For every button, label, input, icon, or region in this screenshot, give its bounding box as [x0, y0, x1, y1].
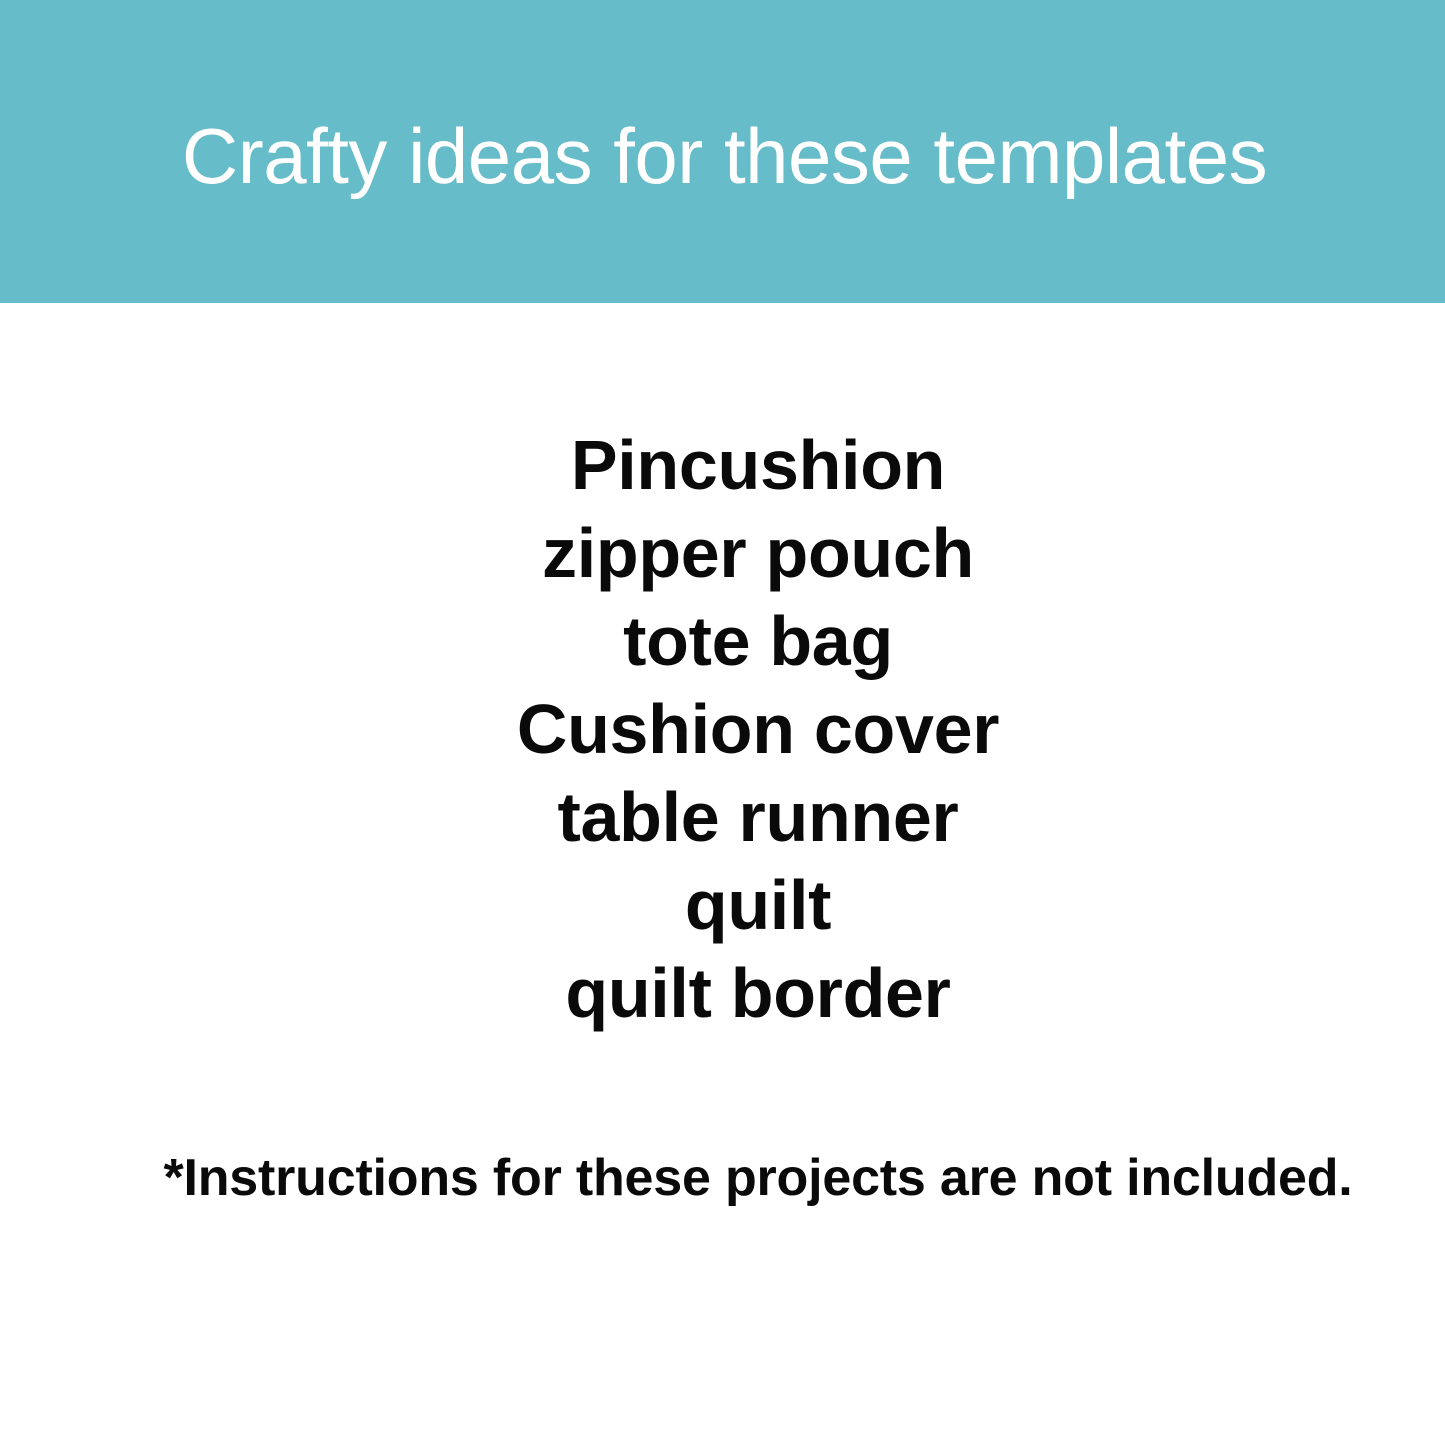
content-area: Pincushion zipper pouch tote bag Cushion…: [0, 303, 1445, 1445]
list-item: table runner: [0, 773, 1445, 861]
list-item: quilt: [0, 861, 1445, 949]
page-title: Crafty ideas for these templates: [182, 117, 1267, 195]
list-item: zipper pouch: [0, 509, 1445, 597]
header-banner: Crafty ideas for these templates: [0, 0, 1445, 303]
list-item: Cushion cover: [0, 685, 1445, 773]
list-item: Pincushion: [0, 421, 1445, 509]
crafty-ideas-list: Pincushion zipper pouch tote bag Cushion…: [0, 421, 1445, 1037]
disclaimer-footnote: *Instructions for these projects are not…: [0, 1145, 1445, 1211]
list-item: tote bag: [0, 597, 1445, 685]
page-root: Crafty ideas for these templates Pincush…: [0, 0, 1445, 1445]
list-item: quilt border: [0, 949, 1445, 1037]
